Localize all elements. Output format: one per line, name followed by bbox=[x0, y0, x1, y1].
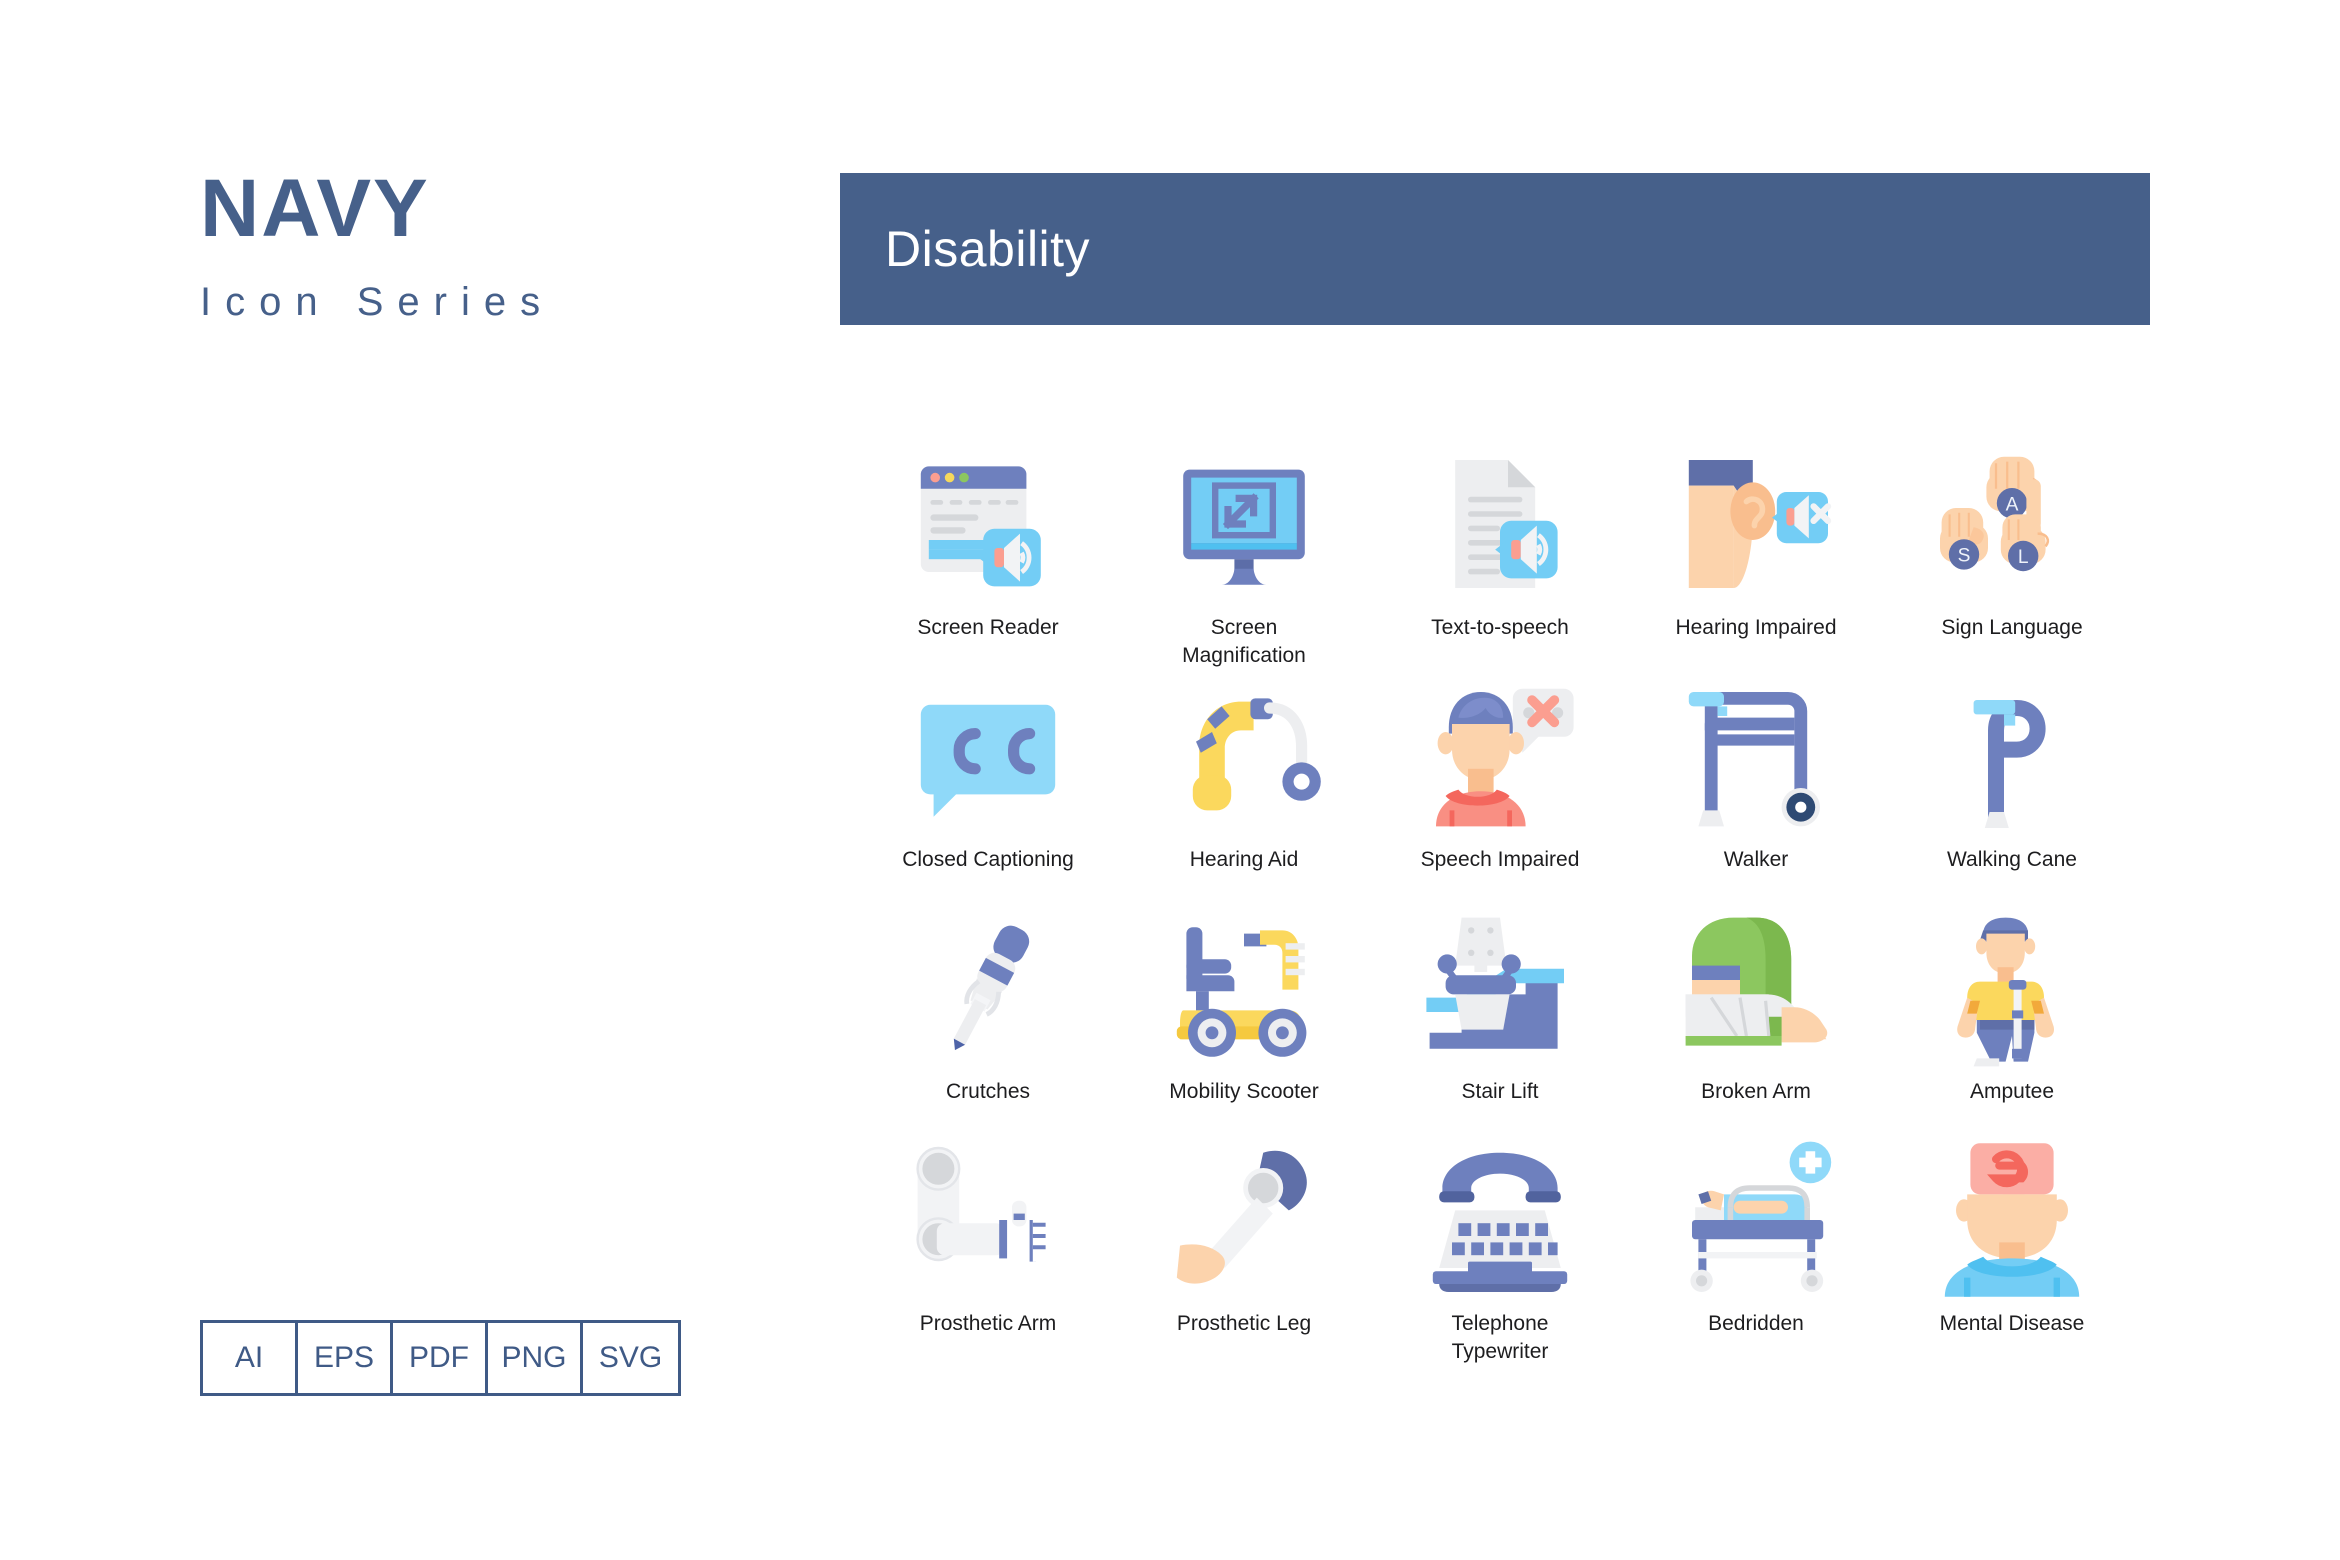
icon-label: Screen Reader bbox=[917, 614, 1058, 642]
icon-label: Bedridden bbox=[1708, 1310, 1804, 1338]
category-bar: Disability bbox=[840, 173, 2150, 325]
icon-label: Hearing Aid bbox=[1190, 846, 1299, 874]
icon-label: Walking Cane bbox=[1947, 846, 2077, 874]
stair-lift-icon bbox=[1415, 904, 1585, 1072]
icon-item-speech-impaired[interactable]: Speech Impaired bbox=[1372, 672, 1628, 904]
icon-label: Prosthetic Arm bbox=[920, 1310, 1057, 1338]
icon-label: Screen Magnification bbox=[1182, 614, 1306, 671]
icon-label: Mental Disease bbox=[1940, 1310, 2085, 1338]
icon-label: Broken Arm bbox=[1701, 1078, 1811, 1106]
bedridden-icon bbox=[1671, 1136, 1841, 1304]
screen-magnification-icon bbox=[1159, 440, 1329, 608]
svg-text:L: L bbox=[2018, 547, 2029, 568]
walker-icon bbox=[1671, 672, 1841, 840]
mental-disease-icon bbox=[1927, 1136, 2097, 1304]
icon-label: Telephone Typewriter bbox=[1452, 1310, 1549, 1367]
icon-item-text-to-speech[interactable]: Text-to-speech bbox=[1372, 440, 1628, 672]
icon-item-crutches[interactable]: Crutches bbox=[860, 904, 1116, 1136]
category-title: Disability bbox=[885, 220, 1090, 278]
icon-label: Prosthetic Leg bbox=[1177, 1310, 1311, 1338]
icon-item-stair-lift[interactable]: Stair Lift bbox=[1372, 904, 1628, 1136]
hearing-aid-icon bbox=[1159, 672, 1329, 840]
icon-label: Text-to-speech bbox=[1431, 614, 1569, 642]
mobility-scooter-icon bbox=[1159, 904, 1329, 1072]
icon-item-walker[interactable]: Walker bbox=[1628, 672, 1884, 904]
svg-text:S: S bbox=[1958, 546, 1971, 567]
icon-label: Mobility Scooter bbox=[1169, 1078, 1318, 1106]
icon-item-mobility-scooter[interactable]: Mobility Scooter bbox=[1116, 904, 1372, 1136]
text-to-speech-icon bbox=[1415, 440, 1585, 608]
icon-label: Hearing Impaired bbox=[1675, 614, 1836, 642]
prosthetic-arm-icon bbox=[903, 1136, 1073, 1304]
format-badge-svg[interactable]: SVG bbox=[583, 1323, 678, 1393]
speech-impaired-icon bbox=[1415, 672, 1585, 840]
icon-item-prosthetic-arm[interactable]: Prosthetic Arm bbox=[860, 1136, 1116, 1368]
icon-item-bedridden[interactable]: Bedridden bbox=[1628, 1136, 1884, 1368]
brand-panel: NAVY Icon Series AI EPS PDF PNG SVG bbox=[0, 0, 840, 1560]
icon-label: Speech Impaired bbox=[1421, 846, 1580, 874]
broken-arm-icon bbox=[1671, 904, 1841, 1072]
icon-item-telephone-typewriter[interactable]: Telephone Typewriter bbox=[1372, 1136, 1628, 1368]
svg-text:A: A bbox=[2006, 494, 2019, 515]
crutches-icon bbox=[903, 904, 1073, 1072]
icon-item-sign-language[interactable]: A S bbox=[1884, 440, 2140, 672]
icon-item-walking-cane[interactable]: Walking Cane bbox=[1884, 672, 2140, 904]
brand-title: NAVY bbox=[200, 168, 430, 250]
content-panel: Disability bbox=[840, 0, 2340, 1560]
walking-cane-icon bbox=[1927, 672, 2097, 840]
format-badge-ai[interactable]: AI bbox=[203, 1323, 298, 1393]
icon-label: Closed Captioning bbox=[902, 846, 1074, 874]
icon-label: Sign Language bbox=[1941, 614, 2082, 642]
icon-item-screen-reader[interactable]: Screen Reader bbox=[860, 440, 1116, 672]
icon-label: Walker bbox=[1724, 846, 1789, 874]
icon-item-amputee[interactable]: Amputee bbox=[1884, 904, 2140, 1136]
format-badge-pdf[interactable]: PDF bbox=[393, 1323, 488, 1393]
icon-label: Amputee bbox=[1970, 1078, 2054, 1106]
closed-captioning-icon bbox=[903, 672, 1073, 840]
sign-language-icon: A S bbox=[1927, 440, 2097, 608]
icon-grid: Screen Reader Screen Magnification bbox=[860, 440, 2140, 1368]
icon-item-mental-disease[interactable]: Mental Disease bbox=[1884, 1136, 2140, 1368]
amputee-icon bbox=[1927, 904, 2097, 1072]
format-badge-group: AI EPS PDF PNG SVG bbox=[200, 1320, 681, 1396]
format-badge-eps[interactable]: EPS bbox=[298, 1323, 393, 1393]
icon-item-prosthetic-leg[interactable]: Prosthetic Leg bbox=[1116, 1136, 1372, 1368]
prosthetic-leg-icon bbox=[1159, 1136, 1329, 1304]
icon-label: Stair Lift bbox=[1461, 1078, 1538, 1106]
icon-item-broken-arm[interactable]: Broken Arm bbox=[1628, 904, 1884, 1136]
icon-item-closed-captioning[interactable]: Closed Captioning bbox=[860, 672, 1116, 904]
brand-subtitle: Icon Series bbox=[200, 282, 554, 322]
hearing-impaired-icon bbox=[1671, 440, 1841, 608]
icon-item-screen-magnification[interactable]: Screen Magnification bbox=[1116, 440, 1372, 672]
icon-item-hearing-impaired[interactable]: Hearing Impaired bbox=[1628, 440, 1884, 672]
screen-reader-icon bbox=[903, 440, 1073, 608]
icon-label: Crutches bbox=[946, 1078, 1030, 1106]
icon-item-hearing-aid[interactable]: Hearing Aid bbox=[1116, 672, 1372, 904]
telephone-typewriter-icon bbox=[1415, 1136, 1585, 1304]
format-badge-png[interactable]: PNG bbox=[488, 1323, 583, 1393]
